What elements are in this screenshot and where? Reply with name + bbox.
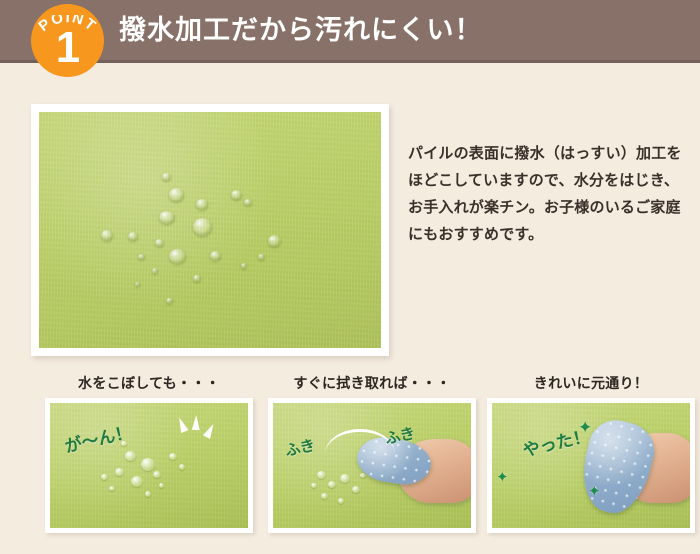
feature-description-line-3: お手入れが楽チン。お子様のいるご家庭 — [408, 194, 688, 221]
step-caption-2: すぐに拭き取れば・・・ — [268, 372, 476, 398]
feature-description-line-1: パイルの表面に撥水（はっすい）加工を — [408, 140, 688, 167]
sparkle-icon: ✦ — [496, 469, 509, 486]
step-photo-clean: やった！ ✦ ✦ ✦ — [492, 403, 690, 528]
step-caption-3: きれいに元通り！ — [487, 372, 695, 398]
step-item-2: すぐに拭き取れば・・・ ふき ふき — [268, 372, 476, 533]
step-item-3: きれいに元通り！ やった！ ✦ ✦ ✦ — [487, 372, 695, 533]
hero-photo-water-repellent-fabric — [39, 112, 381, 348]
step-photo-frame-1: が〜ん！ — [45, 398, 253, 533]
sparkle-icon: ✦ — [578, 419, 592, 436]
hero-photo-frame — [31, 104, 389, 356]
step-photo-frame-3: やった！ ✦ ✦ ✦ — [487, 398, 695, 533]
step-photo-frame-2: ふき ふき — [268, 398, 476, 533]
feature-description: パイルの表面に撥水（はっすい）加工を ほどこしていますので、水分をはじき、 お手… — [408, 140, 688, 248]
point-badge-number: 1 — [31, 26, 104, 70]
step-item-1: 水をこぼしても・・・ が〜ん！ — [45, 372, 253, 533]
flash-mark-icon — [192, 415, 201, 430]
step-gallery: 水をこぼしても・・・ が〜ん！ — [0, 372, 700, 554]
point-badge: POINT 1 — [31, 4, 104, 77]
feature-description-line-2: ほどこしていますので、水分をはじき、 — [408, 167, 688, 194]
flash-mark-icon — [203, 422, 217, 439]
sparkle-icon: ✦ — [588, 483, 601, 500]
step-photo-spill: が〜ん！ — [50, 403, 248, 528]
step-photo-wiping: ふき ふき — [273, 403, 471, 528]
step-handwriting-1: が〜ん！ — [62, 418, 134, 458]
step-caption-1: 水をこぼしても・・・ — [45, 372, 253, 398]
feature-description-line-4: にもおすすめです。 — [408, 221, 688, 248]
page-title: 撥水加工だから汚れにくい！ — [119, 13, 482, 47]
product-feature-page: POINT 1 撥水加工だから汚れにくい！ — [0, 0, 700, 554]
flash-mark-icon — [175, 416, 188, 433]
step-handwriting-2-left: ふき — [283, 434, 317, 461]
